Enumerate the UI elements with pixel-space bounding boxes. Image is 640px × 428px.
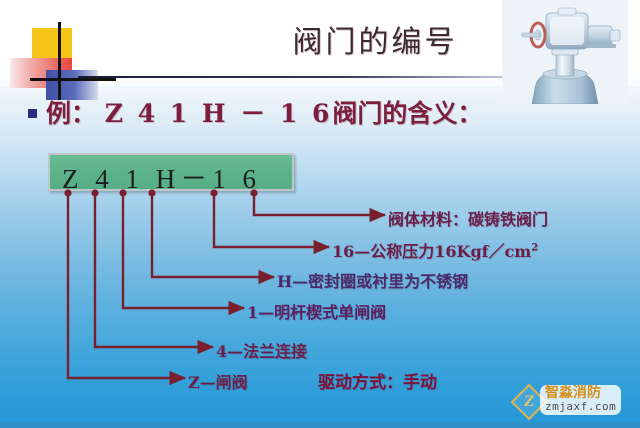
- callout-connection: 4—法兰连接: [216, 338, 307, 362]
- watermark-logo-glyph: Z: [521, 393, 538, 411]
- leader-dot-6: [250, 189, 257, 196]
- callout-nominal-pressure: 16—公称压力16Kgf／cm2: [332, 238, 538, 262]
- callout-seal-ring: H—密封圈或衬里为不锈钢: [277, 268, 468, 292]
- callout-nominal-pressure-text: 16—公称压力16Kgf／cm: [332, 242, 531, 261]
- bottom-strip: [0, 422, 640, 428]
- drive-method-note: 驱动方式：手动: [318, 368, 437, 393]
- slide-canvas: 阀门的编号: [0, 0, 640, 428]
- callout-nominal-pressure-sup: 2: [531, 243, 538, 254]
- leader-dot-4: [148, 189, 155, 196]
- watermark: Z 智淼消防 zmjaxf.com: [516, 385, 634, 419]
- watermark-url: zmjaxf.com: [545, 401, 616, 413]
- leader-dot-5: [210, 189, 217, 196]
- leader-dot-3: [119, 189, 126, 196]
- leader-dot-1: [64, 189, 71, 196]
- leader-stem-type: [123, 193, 244, 308]
- leader-valve-type: [68, 193, 185, 378]
- callout-stem-type: 1—明杆楔式单闸阀: [247, 299, 386, 323]
- callout-valve-type: Z—闸阀: [188, 369, 248, 393]
- leader-connection: [95, 193, 213, 347]
- callout-body-material: 阀体材料：碳铸铁阀门: [388, 206, 548, 230]
- leader-dot-2: [91, 189, 98, 196]
- leader-dots: [64, 189, 257, 196]
- watermark-text-group: 智淼消防 zmjaxf.com: [540, 385, 621, 415]
- leader-nominal-pressure: [214, 193, 329, 247]
- watermark-brand-name: 智淼消防: [545, 386, 616, 401]
- leader-body-material: [254, 193, 385, 215]
